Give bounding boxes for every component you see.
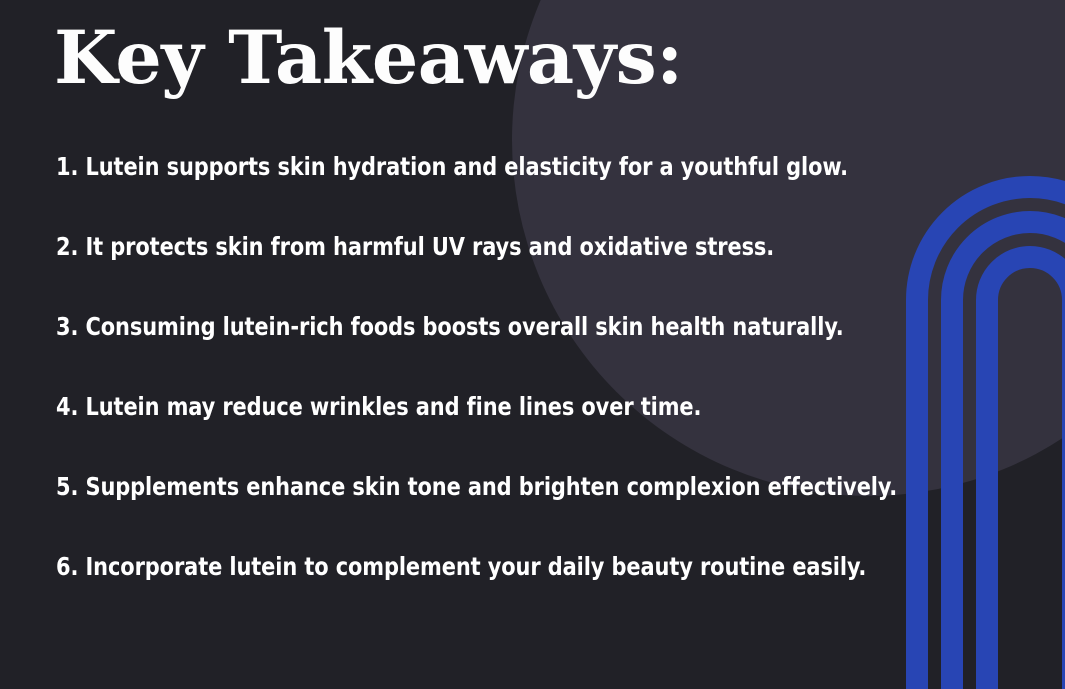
content-layer: Key Takeaways: 1. Lutein supports skin h…: [0, 0, 1065, 689]
list-item: 5. Supplements enhance skin tone and bri…: [56, 472, 1016, 552]
takeaway-item-6-label: 6. Incorporate lutein to complement your…: [56, 552, 866, 582]
slide-canvas: Key Takeaways: 1. Lutein supports skin h…: [0, 0, 1065, 689]
list-item: 6. Incorporate lutein to complement your…: [56, 552, 1016, 632]
list-item: 4. Lutein may reduce wrinkles and fine l…: [56, 392, 1016, 472]
takeaway-list: 1. Lutein supports skin hydration and el…: [56, 152, 1016, 632]
takeaway-item-5-label: 5. Supplements enhance skin tone and bri…: [56, 472, 897, 502]
page-title: Key Takeaways:: [54, 22, 683, 95]
takeaway-item-4-label: 4. Lutein may reduce wrinkles and fine l…: [56, 392, 701, 422]
takeaway-item-1-label: 1. Lutein supports skin hydration and el…: [56, 152, 848, 182]
takeaway-item-2-label: 2. It protects skin from harmful UV rays…: [56, 232, 774, 262]
list-item: 3. Consuming lutein-rich foods boosts ov…: [56, 312, 1016, 392]
list-item: 2. It protects skin from harmful UV rays…: [56, 232, 1016, 312]
list-item: 1. Lutein supports skin hydration and el…: [56, 152, 1016, 232]
takeaway-item-3-label: 3. Consuming lutein-rich foods boosts ov…: [56, 312, 844, 342]
